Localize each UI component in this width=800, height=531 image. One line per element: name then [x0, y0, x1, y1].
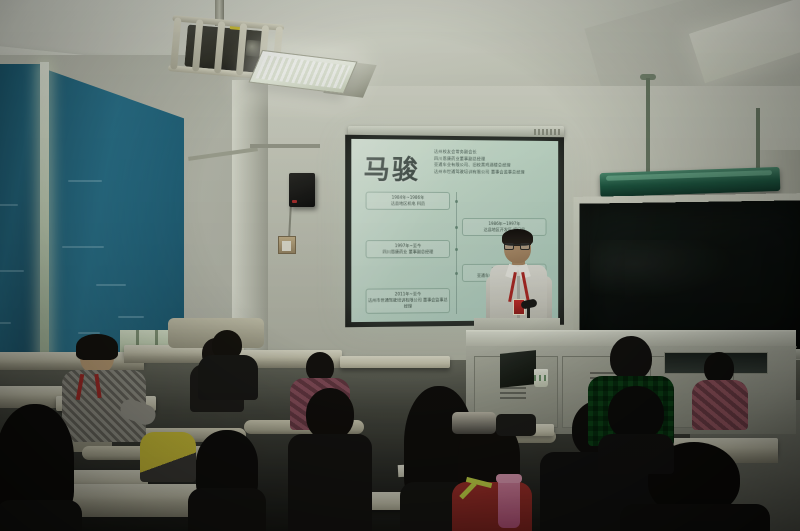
- hair: [76, 334, 118, 360]
- timeline-text: 四川恩康药业 董事副总经理: [368, 249, 448, 255]
- backpack: [452, 412, 496, 434]
- torso: [620, 504, 770, 531]
- torso: [188, 488, 266, 531]
- bag: [496, 414, 536, 436]
- timeline-box: 2011年~至今 达州市世通驾驶培训有限公司 董事会监事总经理: [366, 288, 450, 313]
- audience-student-dark-left: [188, 430, 266, 531]
- timeline-text: 达州市世通驾驶培训有限公司 董事会监事总经理: [368, 297, 448, 310]
- timeline-dot: [455, 226, 458, 229]
- window-light-gap: [40, 62, 49, 382]
- banner-rod-left: [646, 78, 650, 178]
- slide-subtitle-line: 达州市世通驾驶培训有限公司 董事会监事总经理: [434, 169, 554, 176]
- glasses-icon: [504, 244, 531, 250]
- timeline-box: 1997年~至今 四川恩康药业 董事副总经理: [366, 240, 450, 259]
- audience-student-long-hair-left: [0, 404, 82, 531]
- timeline-text: 达县地区机电 科员: [368, 201, 448, 207]
- paper-cup-band: [534, 375, 548, 381]
- audience-student-center-short-hair: [288, 388, 372, 531]
- projector-cage-bar: [170, 17, 182, 69]
- bottle-cap: [496, 474, 522, 483]
- laptop: [500, 350, 536, 388]
- head: [608, 386, 664, 440]
- timeline-axis: [456, 192, 457, 314]
- timeline-dot: [455, 200, 458, 203]
- head: [610, 336, 652, 380]
- wall-conduit-2: [250, 144, 320, 148]
- torso: [198, 355, 258, 400]
- audience-student-far-right: [692, 352, 748, 422]
- speaker-led-icon: [292, 200, 297, 203]
- slide-presenter-name: 马骏: [364, 149, 421, 187]
- screen-brand-label: [534, 129, 560, 135]
- wall-outlet-face: [282, 241, 291, 251]
- pink-water-bottle: [498, 478, 520, 528]
- timeline-dot: [455, 248, 458, 251]
- window-blind-right: [48, 70, 184, 372]
- torso: [288, 434, 372, 531]
- timeline-dot: [455, 272, 458, 275]
- blackboard-chalk-dust: [590, 240, 740, 300]
- head: [306, 388, 354, 440]
- slide-subtitle: 达州校友会常务副会长 四川恩康药业董事副总经理 亚通车业有限公司、旧校黑鸡酒楼总…: [434, 149, 554, 176]
- audience-student-glasses-rear: [196, 330, 260, 390]
- window-blind-left: [0, 64, 44, 382]
- timeline-box: 1984年~1986年 达县地区机电 科员: [366, 192, 450, 211]
- classroom-photo: 马骏 达州校友会常务副会长 四川恩康药业董事副总经理 亚通车业有限公司、旧校黑鸡…: [0, 0, 800, 531]
- torso: [0, 500, 82, 531]
- projector-lens-icon: [245, 40, 260, 57]
- audience-student-front-of-plaid: [598, 386, 674, 466]
- torso: [692, 380, 748, 430]
- desk: [340, 356, 450, 368]
- torso: [598, 434, 674, 474]
